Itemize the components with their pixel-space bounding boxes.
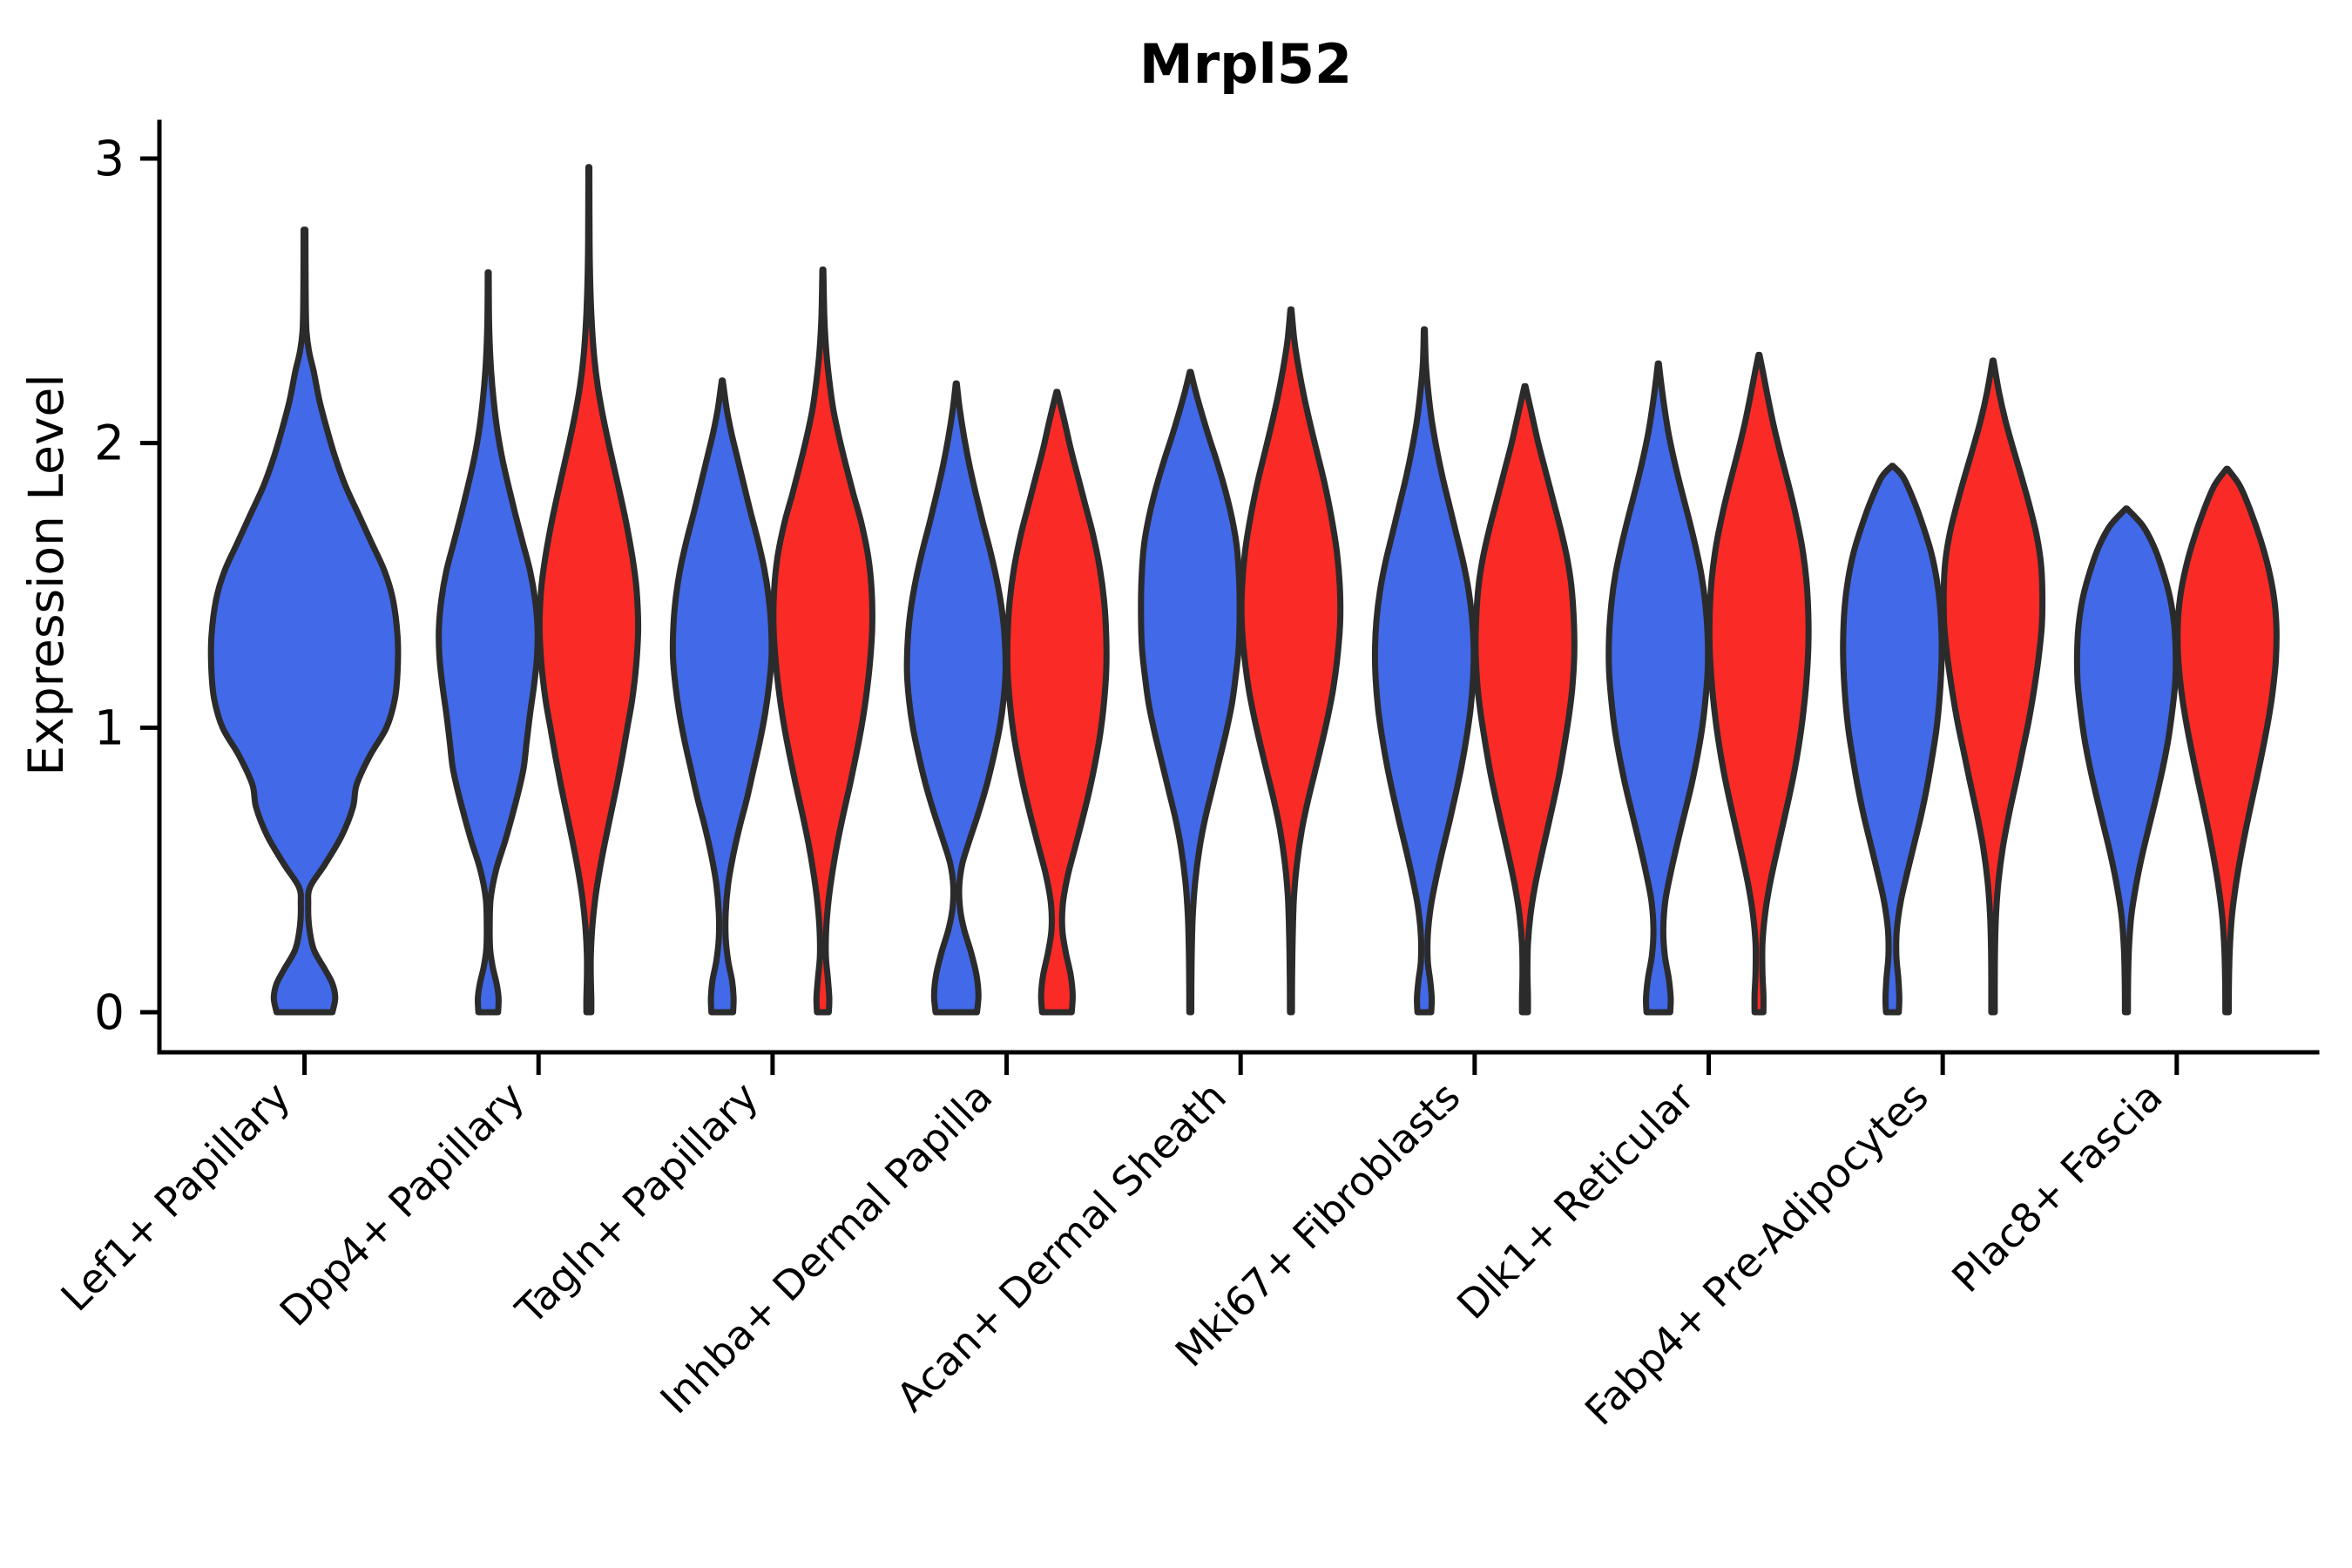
y-tick-label: 2 [94,416,125,471]
y-tick-label: 1 [94,700,125,755]
y-tick-label: 0 [94,984,125,1040]
y-tick-label: 3 [94,131,125,186]
page-title: Mrpl52 [1139,32,1352,96]
y-axis-title: Expression Level [18,374,74,775]
violin-plot-figure: Mrpl52 Expression Level 0123 Lef1+ Papil… [0,0,2352,1568]
violin-plot-canvas: Mrpl52 Expression Level 0123 Lef1+ Papil… [0,0,2352,1568]
